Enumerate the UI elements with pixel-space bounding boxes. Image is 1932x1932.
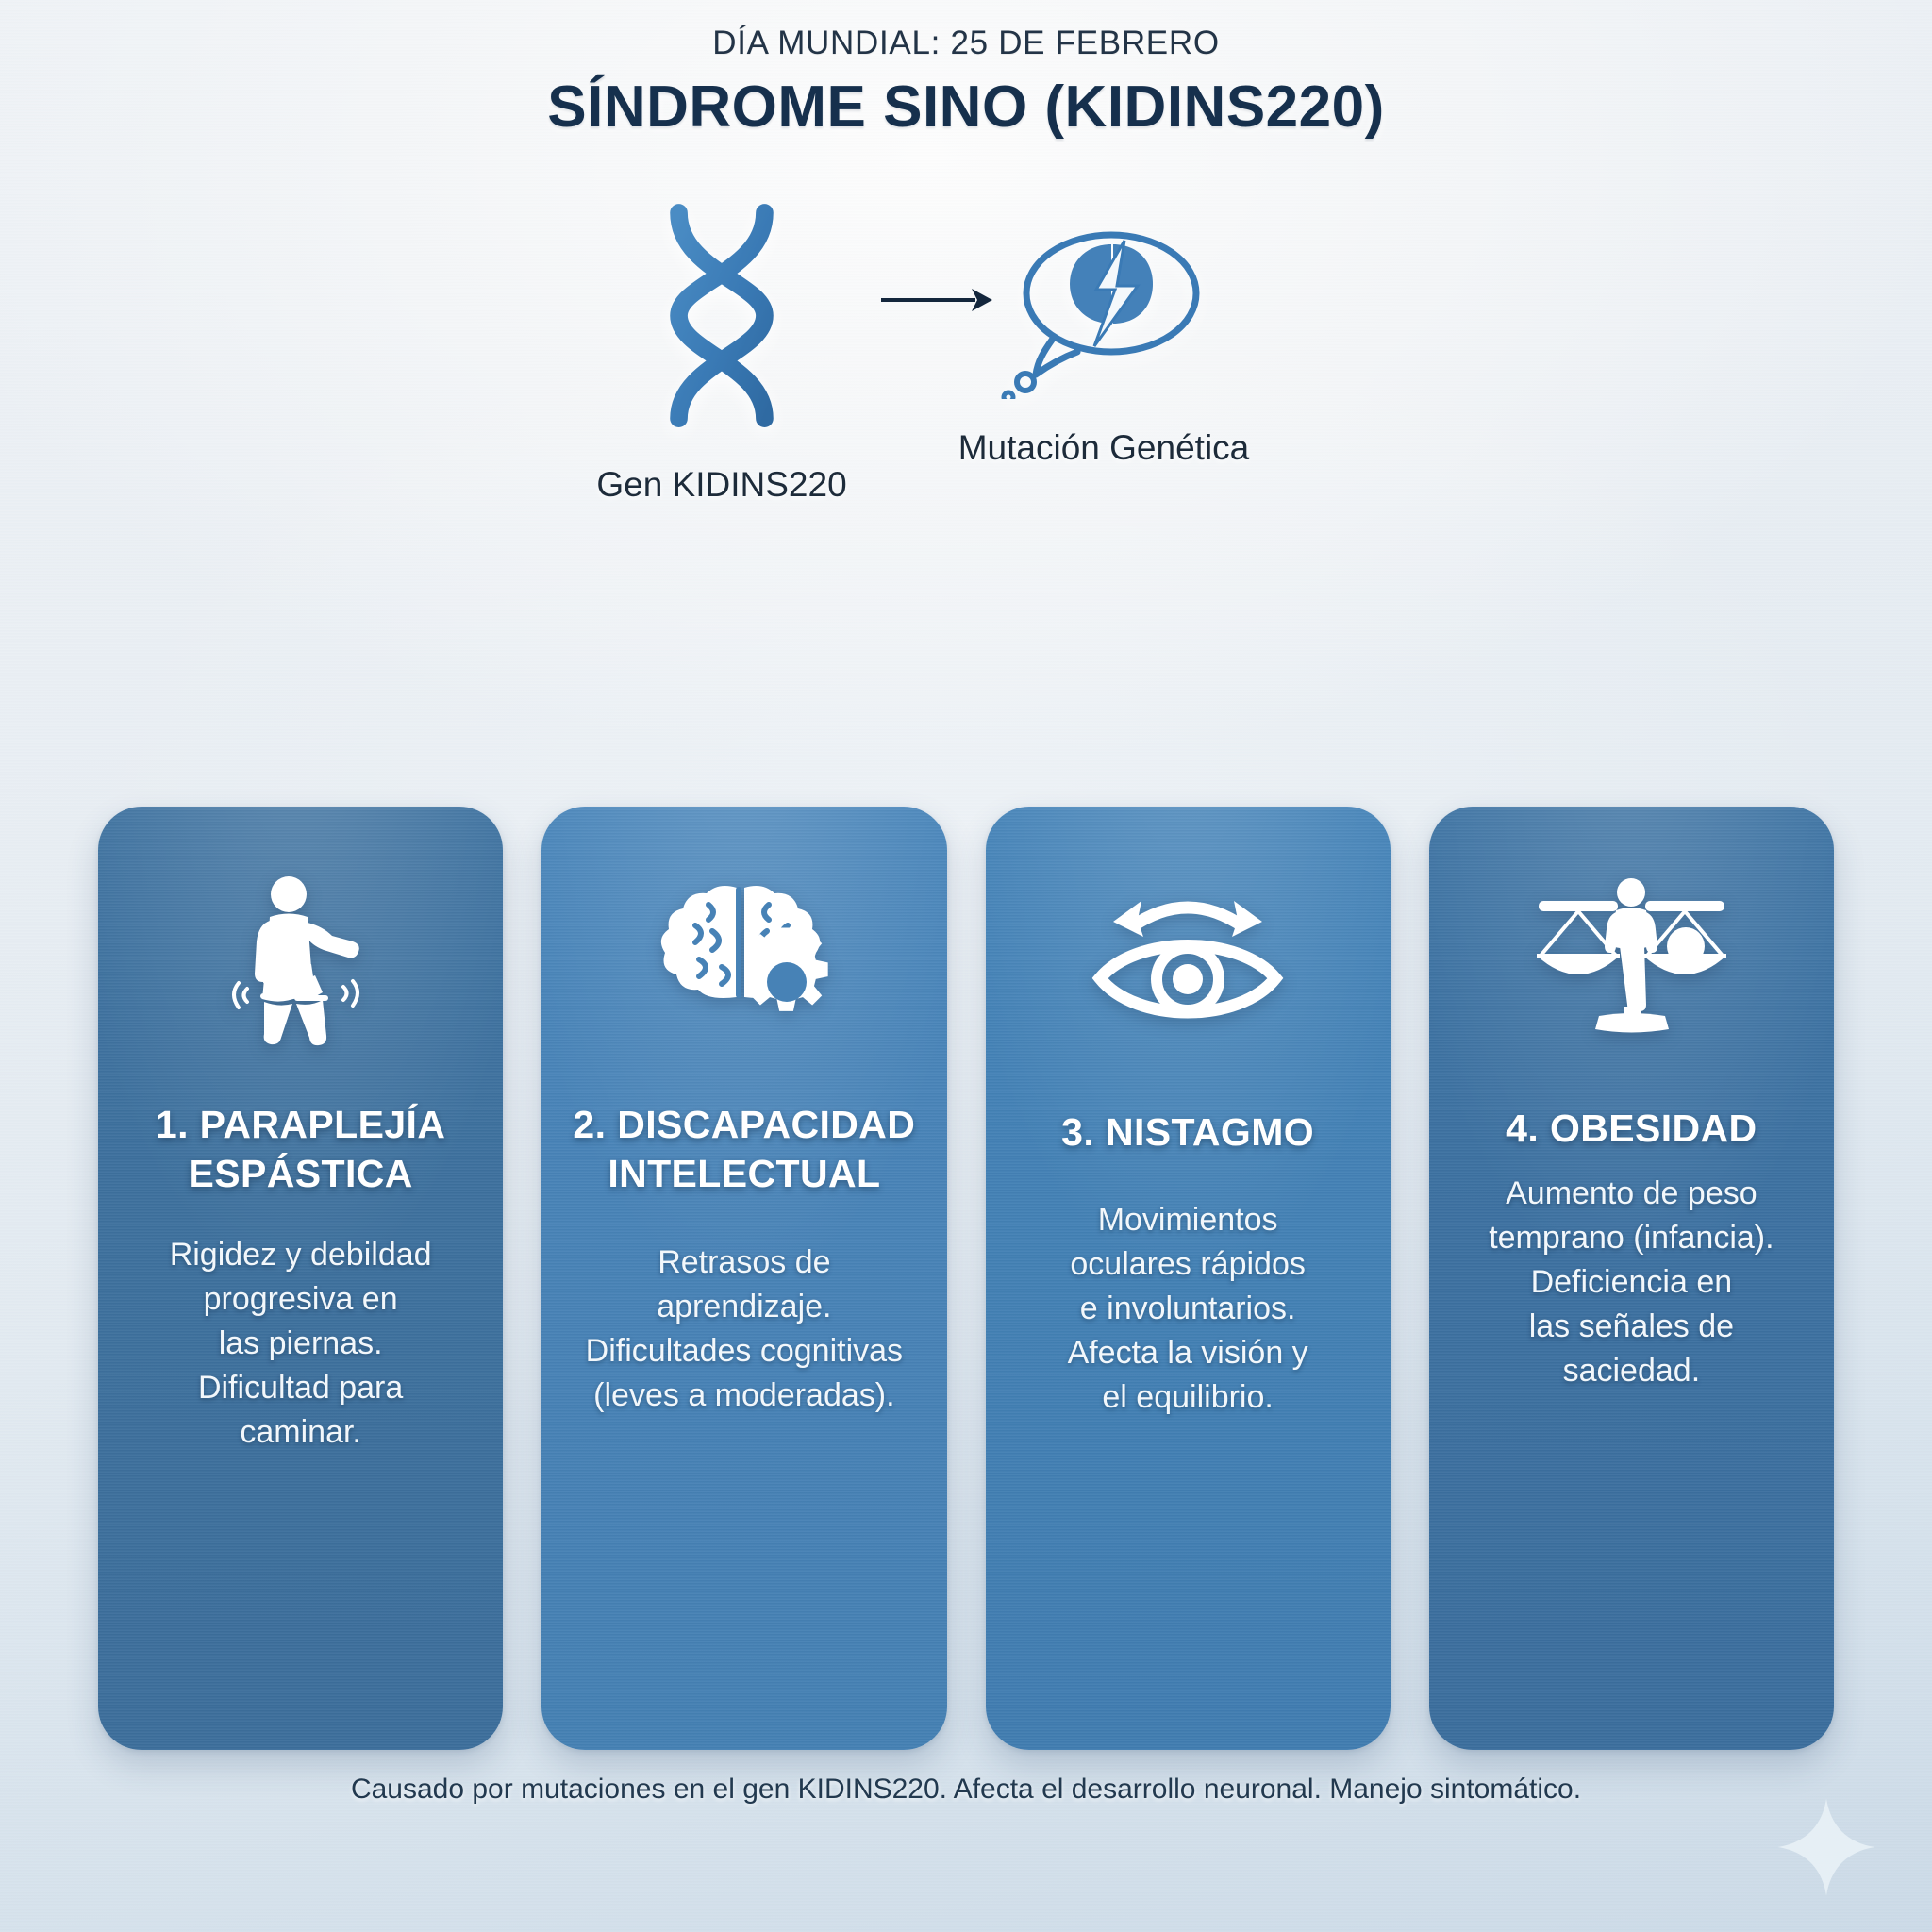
symptom-card-intellectual-disability[interactable]: 2. DISCAPACIDAD INTELECTUAL Retrasos de …: [541, 807, 946, 1750]
right-arrow-icon: [877, 276, 1000, 324]
footer-note: Causado por mutaciones en el gen KIDINS2…: [0, 1774, 1932, 1806]
card-body: Rigidez y debildad progresiva en las pie…: [170, 1233, 432, 1455]
card-body: Retrasos de aprendizaje. Dificultades co…: [586, 1241, 903, 1418]
symptom-card-nystagmus[interactable]: 3. NISTAGMO Movimientos oculares rápidos…: [986, 807, 1391, 1750]
balance-scale-person-icon: [1523, 869, 1740, 1053]
poster-header: DÍA MUNDIAL: 25 DE FEBRERO SÍNDROME SINO…: [0, 25, 1932, 141]
card-body: Aumento de peso temprano (infancia). Def…: [1489, 1172, 1774, 1393]
page-title: SÍNDROME SINO (KIDINS220): [0, 74, 1932, 141]
card-title: 4. OBESIDAD: [1506, 1104, 1757, 1153]
gene-mutation-diagram: Gen KIDINS220 Mutación Genética: [0, 193, 1932, 495]
four-point-sparkle-icon: [1774, 1794, 1879, 1900]
gene-label: Gen KIDINS220: [524, 465, 920, 505]
symptom-card-spastic-paraplegia[interactable]: 1. PARAPLEJÍA ESPÁSTICA Rigidez y debild…: [98, 807, 503, 1750]
speech-bubble-lightning-icon: [1000, 220, 1207, 399]
mutation-label: Mutación Genética: [929, 425, 1278, 472]
card-body: Movimientos oculares rápidos e involunta…: [1068, 1198, 1308, 1420]
dna-helix-icon: [604, 193, 840, 429]
symptom-cards: 1. PARAPLEJÍA ESPÁSTICA Rigidez y debild…: [98, 807, 1834, 1750]
brain-gear-icon: [636, 869, 853, 1053]
symptom-card-obesity[interactable]: 4. OBESIDAD Aumento de peso temprano (in…: [1429, 807, 1834, 1750]
eye-nystagmus-icon: [1079, 869, 1296, 1053]
infographic-poster: DÍA MUNDIAL: 25 DE FEBRERO SÍNDROME SINO…: [0, 0, 1932, 1932]
kicker-text: DÍA MUNDIAL: 25 DE FEBRERO: [0, 25, 1932, 62]
card-title: 1. PARAPLEJÍA ESPÁSTICA: [119, 1100, 482, 1199]
card-title: 2. DISCAPACIDAD INTELECTUAL: [562, 1100, 925, 1199]
walking-person-spasticity-icon: [192, 869, 409, 1053]
card-title: 3. NISTAGMO: [1061, 1108, 1314, 1157]
